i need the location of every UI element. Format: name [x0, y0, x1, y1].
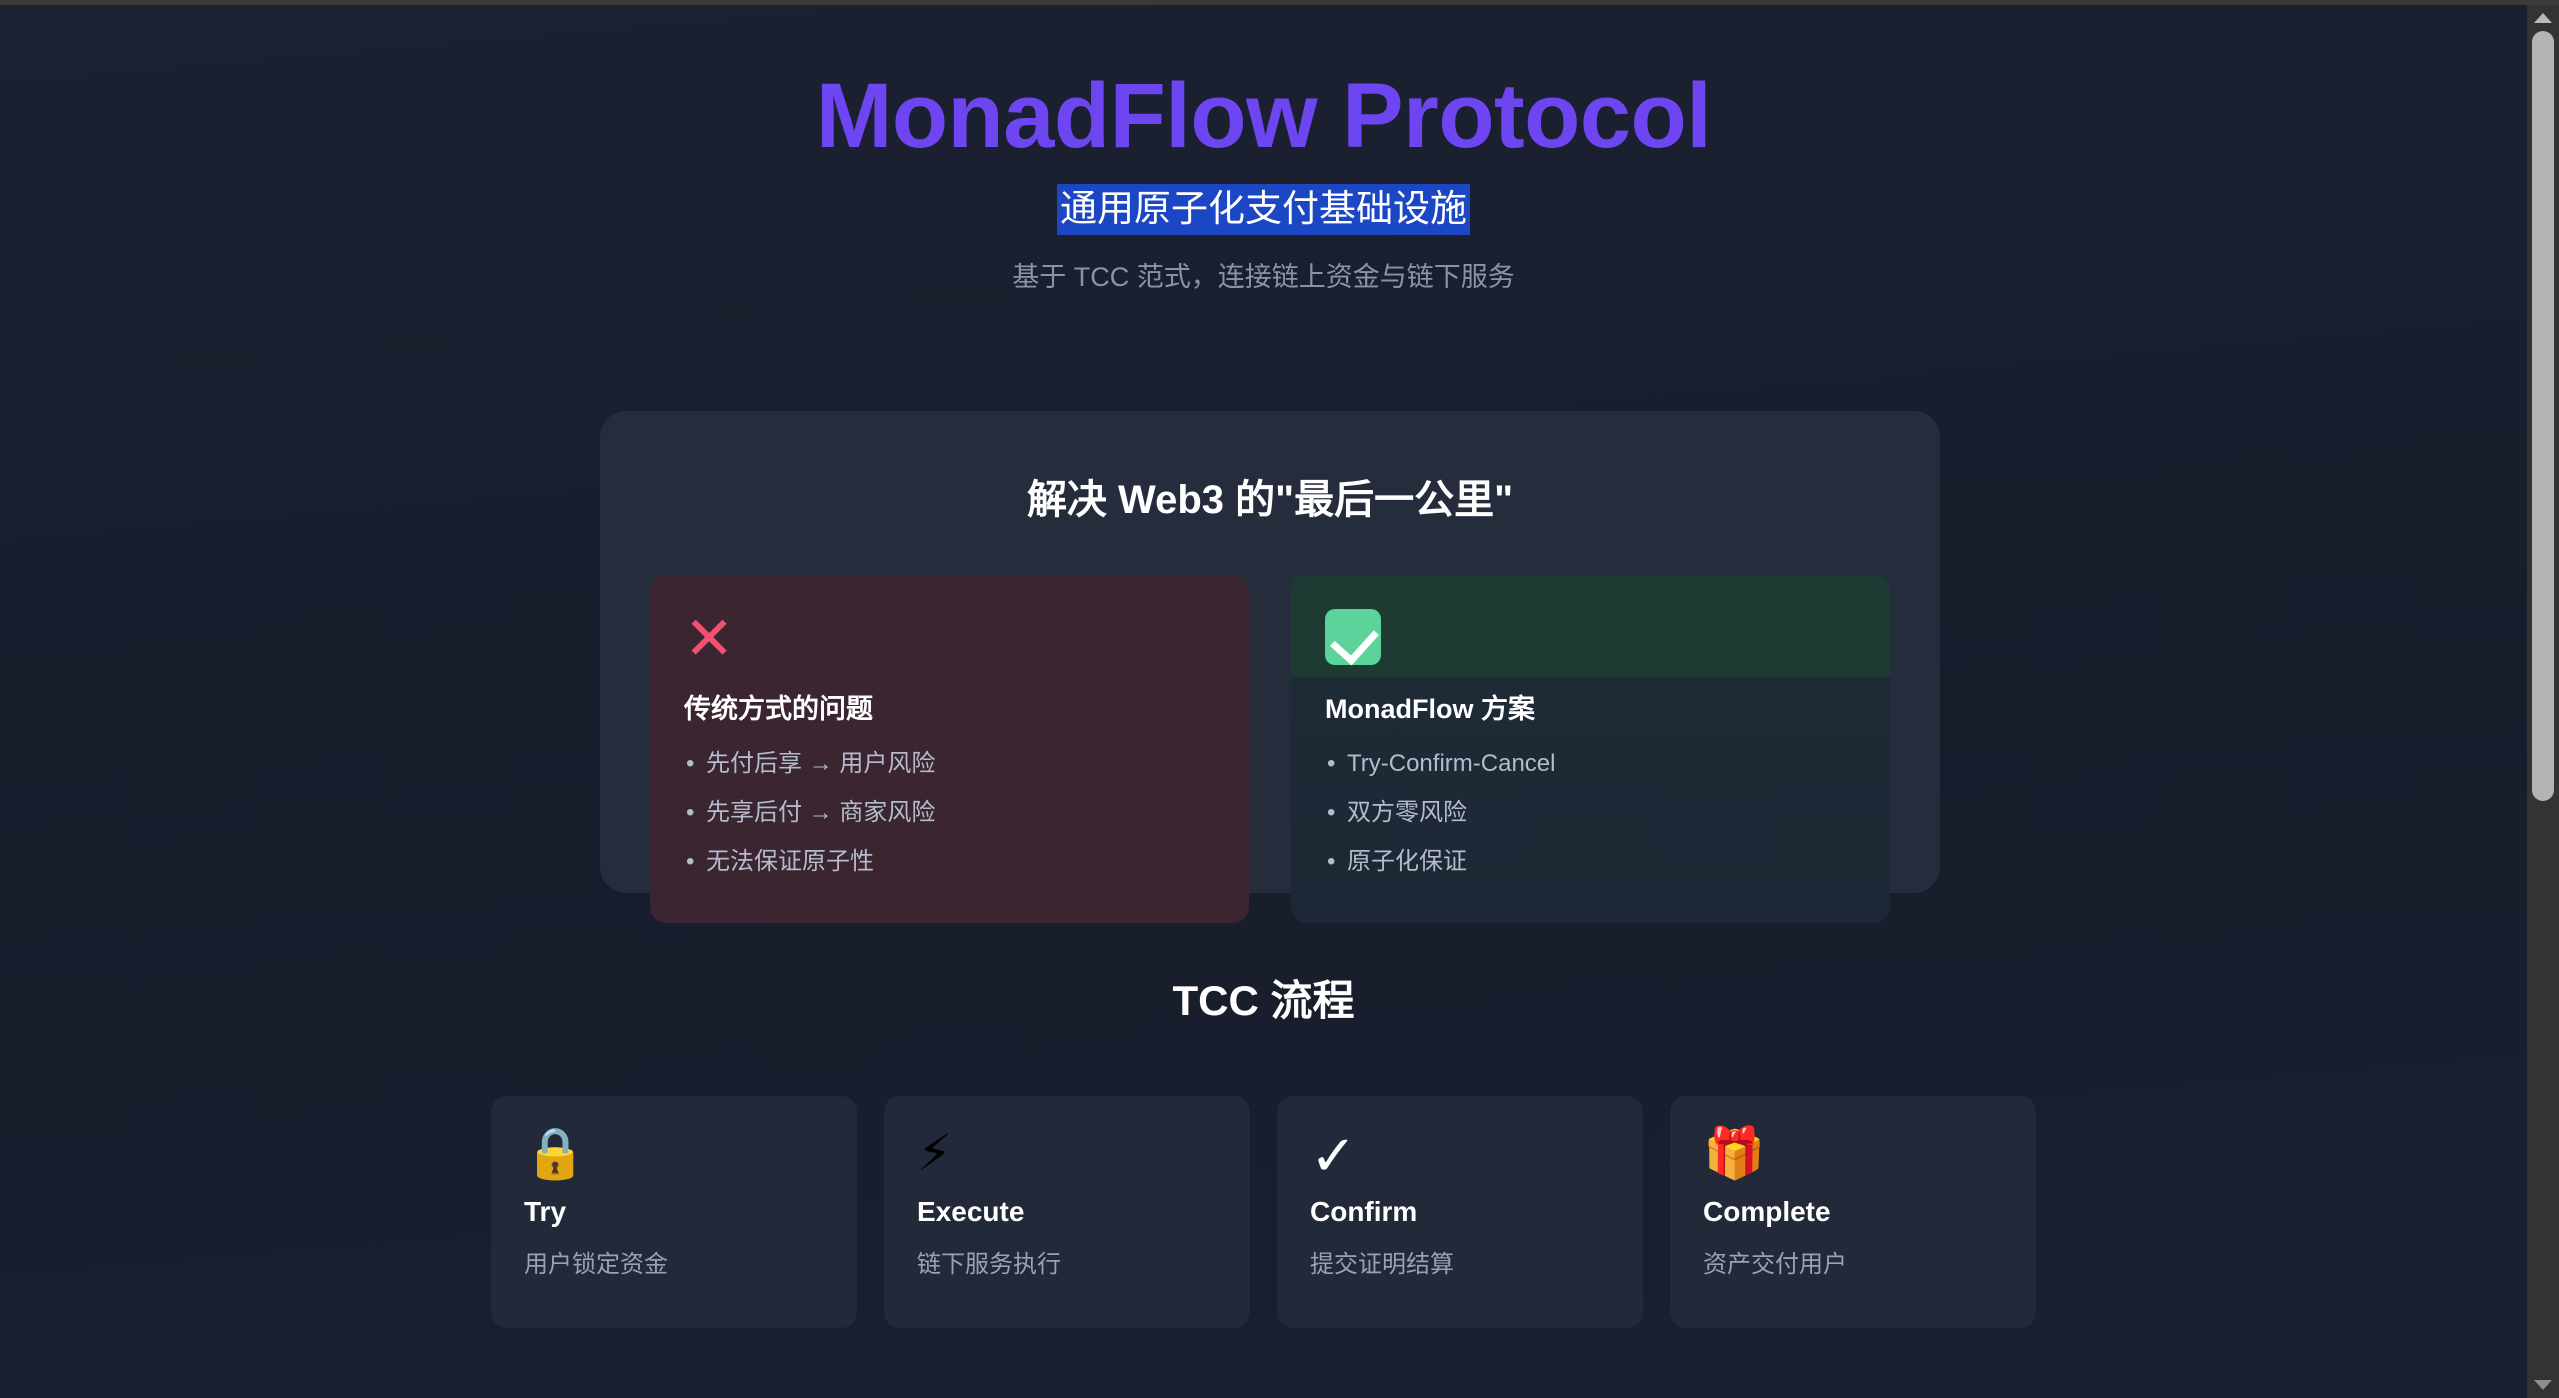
comparison-card-problem: ✕ 传统方式的问题 先付后享 → 用户风险 先享后付 → 商家风险 无法保证原子… — [650, 575, 1249, 923]
list-item: 无法保证原子性 — [684, 844, 1215, 880]
scroll-down-arrow-icon[interactable] — [2527, 1374, 2559, 1396]
hero-tagline: 基于 TCC 范式，连接链上资金与链下服务 — [0, 255, 2527, 294]
lock-icon: 🔒 — [524, 1128, 824, 1190]
flow-step-title: Complete — [1703, 1196, 2003, 1228]
list-item: 双方零风险 — [1325, 795, 1856, 831]
flow-step-card-try[interactable]: 🔒 Try 用户锁定资金 — [491, 1096, 857, 1328]
list-item: Try-Confirm-Cancel — [1325, 746, 1856, 782]
app-viewport: MonadFlow Protocol 通用原子化支付基础设施 基于 TCC 范式… — [0, 0, 2559, 1398]
comparison-card-title: 传统方式的问题 — [684, 687, 1215, 726]
flow-step-card-confirm[interactable]: ✓ Confirm 提交证明结算 — [1277, 1096, 1643, 1328]
comparison-card-list: 先付后享 → 用户风险 先享后付 → 商家风险 无法保证原子性 — [684, 746, 1215, 880]
flow-step-card-execute[interactable]: ⚡ Execute 链下服务执行 — [884, 1096, 1250, 1328]
flow-step-description: 链下服务执行 — [917, 1244, 1217, 1279]
cross-mark-icon: ✕ — [684, 609, 1215, 669]
comparison-card-list: Try-Confirm-Cancel 双方零风险 原子化保证 — [1325, 746, 1856, 880]
flow-step-description: 资产交付用户 — [1703, 1244, 2003, 1279]
check-icon: ✓ — [1310, 1128, 1610, 1190]
comparison-panel: 解决 Web3 的"最后一公里" ✕ 传统方式的问题 先付后享 → 用户风险 先… — [600, 411, 1940, 893]
hero-section: MonadFlow Protocol 通用原子化支付基础设施 基于 TCC 范式… — [0, 5, 2527, 294]
comparison-grid: ✕ 传统方式的问题 先付后享 → 用户风险 先享后付 → 商家风险 无法保证原子… — [600, 525, 1940, 923]
gift-icon: 🎁 — [1703, 1128, 2003, 1190]
page-title: MonadFlow Protocol — [0, 67, 2527, 166]
vertical-scrollbar[interactable] — [2527, 5, 2559, 1398]
comparison-heading: 解决 Web3 的"最后一公里" — [600, 411, 1940, 525]
hero-subtitle-selected-text[interactable]: 通用原子化支付基础设施 — [1057, 184, 1470, 234]
card-icon-slot — [1325, 609, 1856, 669]
flow-step-card-complete[interactable]: 🎁 Complete 资产交付用户 — [1670, 1096, 2036, 1328]
tcc-flow-grid: 🔒 Try 用户锁定资金 ⚡ Execute 链下服务执行 ✓ Confirm … — [0, 1028, 2527, 1328]
lightning-icon: ⚡ — [917, 1128, 1217, 1190]
scroll-up-arrow-icon[interactable] — [2527, 7, 2559, 29]
list-item: 原子化保证 — [1325, 844, 1856, 880]
flow-step-description: 用户锁定资金 — [524, 1244, 824, 1279]
flow-step-title: Try — [524, 1196, 824, 1228]
comparison-card-solution: MonadFlow 方案 Try-Confirm-Cancel 双方零风险 原子… — [1291, 575, 1890, 923]
flow-step-title: Confirm — [1310, 1196, 1610, 1228]
scrollbar-thumb[interactable] — [2532, 31, 2554, 801]
comparison-card-title: MonadFlow 方案 — [1325, 687, 1856, 726]
hero-subtitle-line: 通用原子化支付基础设施 — [0, 166, 2527, 234]
flow-step-description: 提交证明结算 — [1310, 1244, 1610, 1279]
flow-step-title: Execute — [917, 1196, 1217, 1228]
list-item: 先付后享 → 用户风险 — [684, 746, 1215, 782]
white-check-mark-icon — [1325, 609, 1381, 665]
tcc-flow-section: TCC 流程 🔒 Try 用户锁定资金 ⚡ Execute 链下服务执行 ✓ C… — [0, 967, 2527, 1328]
page-content: MonadFlow Protocol 通用原子化支付基础设施 基于 TCC 范式… — [0, 5, 2527, 1398]
list-item: 先享后付 → 商家风险 — [684, 795, 1215, 831]
tcc-flow-heading: TCC 流程 — [0, 967, 2527, 1028]
